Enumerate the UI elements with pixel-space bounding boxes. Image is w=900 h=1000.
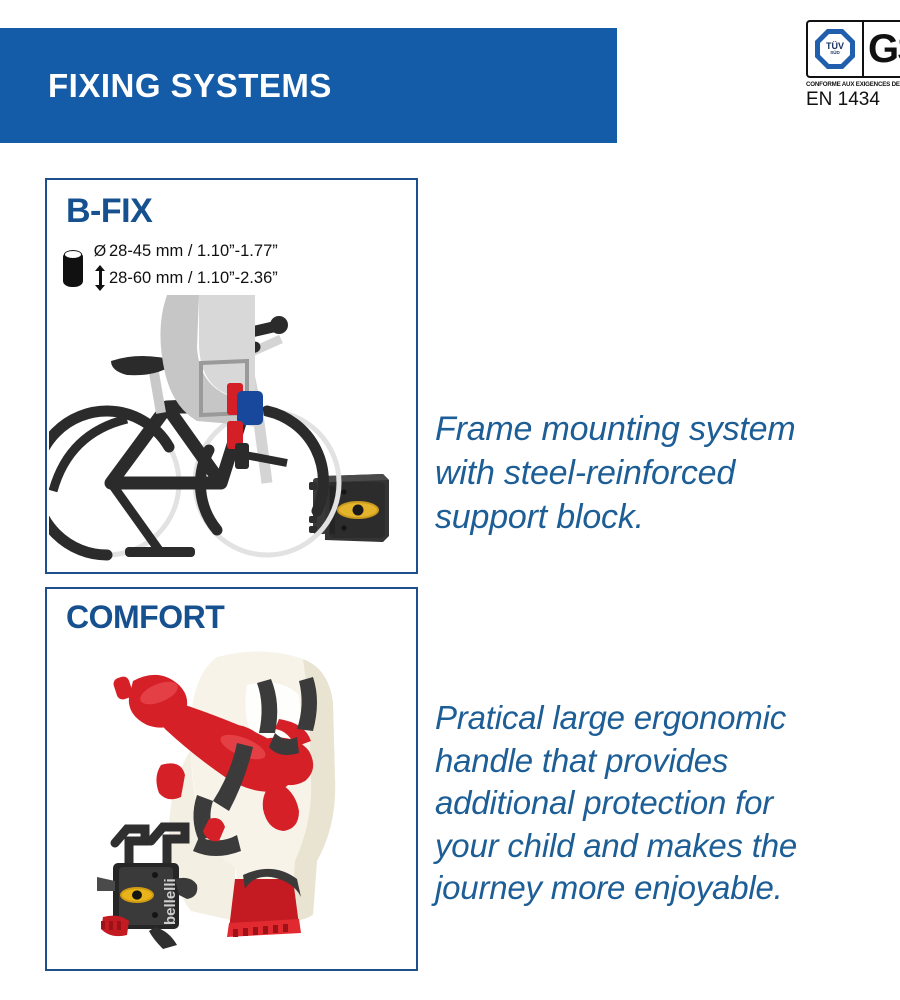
- gs-mark-icon: GS: [864, 33, 900, 65]
- desc-line: handle that provides: [435, 740, 900, 783]
- header-banner: FIXING SYSTEMS: [0, 28, 617, 143]
- b-fix-spec-list: Ø 28-45 mm / 1.10”-1.77” 28-60 mm / 1.10…: [63, 242, 278, 291]
- desc-line: journey more enjoyable.: [435, 867, 900, 910]
- spec-row-diameter: Ø 28-45 mm / 1.10”-1.77”: [91, 242, 278, 261]
- spec-value-diameter: 28-45 mm / 1.10”-1.77”: [109, 242, 278, 261]
- spec-value-height: 28-60 mm / 1.10”-2.36”: [109, 269, 278, 288]
- spec-row-height: 28-60 mm / 1.10”-2.36”: [91, 265, 278, 291]
- description-b-fix: Frame mounting system with steel-reinfor…: [435, 408, 895, 540]
- bicycle-illustration: [49, 295, 417, 570]
- cert-marks-row: TÜV SÜD GS: [806, 20, 900, 78]
- panel-comfort: COMFORT: [45, 587, 418, 971]
- tube-icon: [63, 247, 83, 287]
- gs-label: GS: [868, 33, 900, 65]
- certification-badge: TÜV SÜD GS CONFORME AUX EXIGENCES DE SÉ …: [806, 20, 900, 120]
- cert-standard-number: EN 1434: [806, 89, 900, 111]
- panel-title-b-fix: B-FIX: [66, 192, 152, 231]
- tuv-sublabel: SÜD: [830, 51, 840, 56]
- desc-line: Pratical large ergonomic: [435, 697, 900, 740]
- desc-line: your child and makes the: [435, 825, 900, 868]
- child-seat-photo: bellelli: [67, 629, 397, 959]
- page-title: FIXING SYSTEMS: [0, 67, 332, 105]
- desc-line: additional protection for: [435, 782, 900, 825]
- desc-line: with steel-reinforced: [435, 452, 895, 496]
- desc-line: Frame mounting system: [435, 408, 895, 452]
- desc-line: support block.: [435, 496, 895, 540]
- tuv-sud-icon: TÜV SÜD: [808, 22, 864, 76]
- cert-conformity-text: CONFORME AUX EXIGENCES DE SÉ: [806, 81, 900, 88]
- vertical-arrow-icon: [91, 265, 109, 291]
- bracket-wordmark: bellelli: [162, 878, 179, 925]
- diameter-icon: Ø: [91, 243, 109, 261]
- description-comfort: Pratical large ergonomic handle that pro…: [435, 697, 900, 910]
- panel-b-fix: B-FIX Ø 28-45 mm / 1.10”-1.77” 28-60 mm …: [45, 178, 418, 574]
